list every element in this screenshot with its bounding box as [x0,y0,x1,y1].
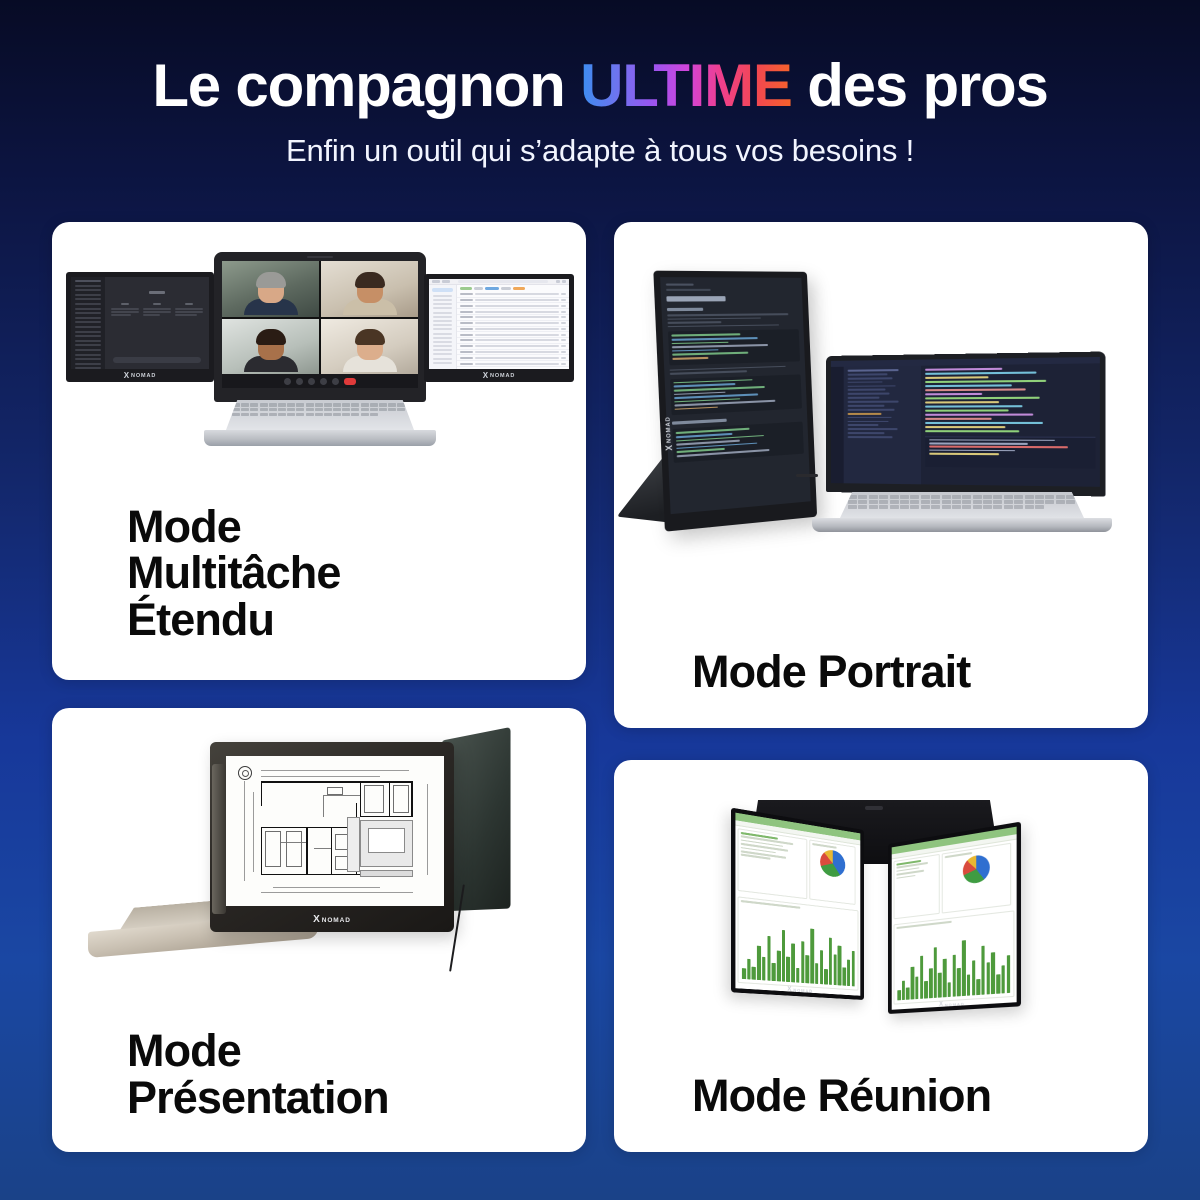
headline-part-before: Le compagnon [152,52,580,119]
meeting-screen-right: XNOMAD [888,822,1021,1014]
call-control-bar[interactable] [222,374,418,388]
screen-documentation [660,277,811,514]
mic-icon[interactable] [284,378,291,385]
laptop-keyboard [226,400,414,430]
card-title-presentation: ModePrésentation [127,1028,389,1122]
dashboard-panel-pie [809,839,855,905]
monitor-brand-presentation: XNOMAD [210,915,454,925]
usb-c-cable [796,474,818,477]
chat-icon[interactable] [332,378,339,385]
dashboard-panel-list [894,854,940,920]
mode-card-grid: XNOMAD [52,222,1148,1152]
header: Le compagnon ULTIME des pros Enfin un ou… [0,0,1200,169]
video-participant [222,319,319,375]
dashboard-panel-list [738,828,808,900]
bar-chart [897,932,1010,1000]
video-participant-grid [222,261,418,374]
ai-logo-icon [149,291,165,294]
camera-icon[interactable] [296,378,303,385]
page-subtitle: Enfin un outil qui s’adapte à tous vos b… [0,133,1200,169]
monitor-brand-right: XNOMAD [424,370,574,381]
code-editor-pane[interactable] [921,363,1100,487]
card-mode-reunion[interactable]: XNOMAD [614,760,1148,1152]
headline-part-after: des pros [792,52,1048,119]
dashboard-panel-pie [942,843,1012,914]
pie-chart [962,853,989,884]
pie-chart [820,848,845,878]
laptop-lid [214,252,426,402]
webcam-icon [307,256,333,258]
side-monitor-left: XNOMAD [66,272,214,382]
share-screen-icon[interactable] [308,378,315,385]
monitor-brand-meeting-left: XNOMAD [787,986,813,994]
screen-messagerie [429,279,569,369]
file-explorer[interactable] [844,366,922,485]
headline-highlight: ULTIME [580,52,792,119]
mail-message-list[interactable] [457,285,569,369]
screen-assistant-ia [71,277,209,369]
page-title: Le compagnon ULTIME des pros [0,54,1200,117]
ai-conversation-area [105,277,209,369]
activity-bar[interactable] [831,367,844,483]
integrated-terminal[interactable] [925,436,1095,469]
mail-search-input[interactable] [458,280,548,284]
card-title-portrait: Mode Portrait [692,649,970,696]
participants-icon[interactable] [320,378,327,385]
monitor-hinge [212,764,226,914]
product-illustration-presentation: XNOMAD [52,726,586,996]
doc-heading-fundamentals [666,296,725,301]
ai-prompt-input[interactable] [113,357,201,363]
video-participant [222,261,319,317]
laptop-center [204,252,436,446]
portrait-monitor: XNOMAD [653,271,817,532]
presentation-monitor: XNOMAD [210,742,454,932]
product-illustration-multitache: XNOMAD [52,246,586,456]
screen-tableau-de-bord [735,813,860,996]
product-illustration-reunion: XNOMAD [614,782,1148,1022]
monitor-brand-portrait: XNOMAD [663,412,676,455]
meeting-screen-left: XNOMAD [731,808,864,1000]
architect-seal-icon [238,766,252,780]
laptop-portrait-mode [812,356,1112,532]
card-mode-presentation[interactable]: XNOMAD ModePrésentation [52,708,586,1152]
ai-sidebar [71,277,105,369]
side-monitor-right: XNOMAD [424,274,574,382]
monitor-brand-left: XNOMAD [66,370,214,381]
new-mail-button[interactable] [432,288,453,292]
video-participant [321,319,418,375]
mail-row[interactable] [457,361,569,367]
card-mode-portrait[interactable]: XNOMAD [614,222,1148,728]
video-participant [321,261,418,317]
screen-visioconference [222,261,418,388]
hinge-notch-icon [865,806,883,810]
laptop-base [812,518,1112,532]
dashboard-panel-bars [894,910,1015,1005]
end-call-button[interactable] [344,378,356,385]
floor-plan-drawing [232,762,438,900]
product-illustration-portrait: XNOMAD [614,252,1148,562]
dashboard-panel-bars [738,896,859,991]
screen-tableau-de-bord [892,827,1017,1010]
card-mode-multitache[interactable]: XNOMAD [52,222,586,680]
monitor-brand-meeting-right: XNOMAD [939,1000,965,1008]
screen-plan-architectural [226,756,444,906]
laptop-lid [826,352,1105,497]
bar-chart [742,918,855,986]
laptop-keyboard [840,492,1084,518]
card-title-multitache: ModeMultitâcheÉtendu [127,504,341,644]
laptop-base [204,430,436,446]
card-title-reunion: Mode Réunion [692,1073,991,1120]
mail-folder-pane[interactable] [429,285,457,369]
screen-editeur-de-code [831,357,1100,487]
